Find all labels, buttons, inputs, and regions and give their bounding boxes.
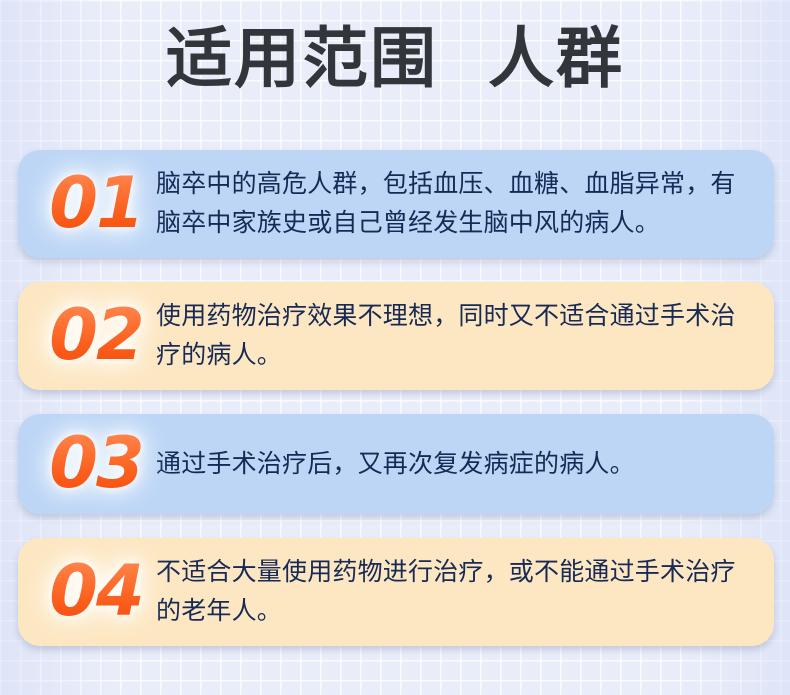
item-number-badge: 03	[48, 428, 144, 498]
item-number-badge: 01	[48, 168, 144, 238]
item-description: 通过手术治疗后，又再次复发病症的病人。	[144, 444, 756, 483]
item-number-badge: 02	[48, 300, 144, 370]
item-description: 脑卒中的高危人群，包括血压、血糖、血脂异常，有脑卒中家族史或自己曾经发生脑中风的…	[144, 164, 756, 242]
page-title: 适用范围 人群	[0, 18, 790, 98]
list-item: 04 不适合大量使用药物进行治疗，或不能通过手术治疗的老年人。	[18, 538, 774, 646]
page-root: 适用范围 人群 01 脑卒中的高危人群，包括血压、血糖、血脂异常，有脑卒中家族史…	[0, 0, 790, 695]
item-description: 使用药物治疗效果不理想，同时又不适合通过手术治疗的病人。	[144, 296, 756, 374]
list-item: 01 脑卒中的高危人群，包括血压、血糖、血脂异常，有脑卒中家族史或自己曾经发生脑…	[18, 150, 774, 258]
item-description: 不适合大量使用药物进行治疗，或不能通过手术治疗的老年人。	[144, 552, 756, 630]
list-item: 02 使用药物治疗效果不理想，同时又不适合通过手术治疗的病人。	[18, 282, 774, 390]
list-item: 03 通过手术治疗后，又再次复发病症的病人。	[18, 414, 774, 514]
item-number-badge: 04	[48, 556, 144, 626]
criteria-list: 01 脑卒中的高危人群，包括血压、血糖、血脂异常，有脑卒中家族史或自己曾经发生脑…	[18, 150, 774, 646]
